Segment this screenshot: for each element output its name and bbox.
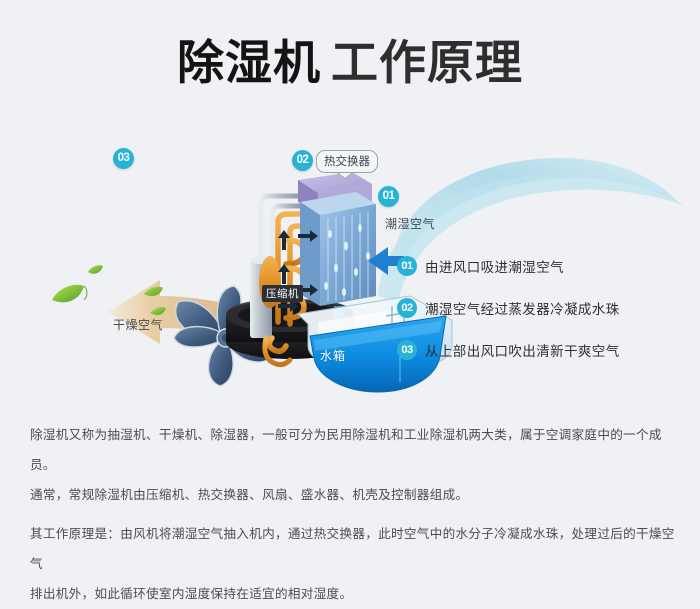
page-title-main: 除湿机 <box>177 36 321 89</box>
badge-dry-air: 03 <box>113 148 134 169</box>
page-root: 除湿机工作原理 <box>0 0 700 566</box>
steps-list: 01 由进风口吸进潮湿空气 02 潮湿空气经过蒸发器冷凝成水珠 03 从上部出风… <box>397 255 697 381</box>
description-copy: 除湿机又称为抽湿机、干燥机、除湿器，一般可分为民用除湿机和工业除湿机两大类，属于… <box>30 420 680 609</box>
label-compressor: 压缩机 <box>262 285 303 302</box>
paragraph-2-line-1: 其工作原理是：由风机将潮湿空气抽入机内，通过热交换器，此时空气中的水分子冷凝成水… <box>30 519 680 579</box>
step-badge: 02 <box>397 298 417 318</box>
step-badge: 03 <box>397 340 417 360</box>
badge-humid-air: 01 <box>378 186 399 207</box>
paragraph-spacer <box>30 510 680 519</box>
step-item: 02 潮湿空气经过蒸发器冷凝成水珠 <box>397 297 697 319</box>
paragraph-2-line-2: 排出机外，如此循环使室内湿度保持在适宜的相对湿度。 <box>30 579 680 609</box>
paragraph-1-line-1: 除湿机又称为抽湿机、干燥机、除湿器，一般可分为民用除湿机和工业除湿机两大类，属于… <box>30 420 680 480</box>
label-humid-air: 潮湿空气 <box>385 215 435 232</box>
page-title: 除湿机工作原理 <box>0 36 700 90</box>
label-water-tank: 水箱 <box>320 347 346 364</box>
step-item: 03 从上部出风口吹出清新干爽空气 <box>397 339 697 361</box>
callout-heat-exchanger: 热交换器 <box>316 150 378 173</box>
page-title-sub: 工作原理 <box>331 36 523 89</box>
step-text: 潮湿空气经过蒸发器冷凝成水珠 <box>425 298 620 318</box>
step-item: 01 由进风口吸进潮湿空气 <box>397 255 697 277</box>
step-text: 由进风口吸进潮湿空气 <box>425 256 564 276</box>
step-text: 从上部出风口吹出清新干爽空气 <box>425 340 620 360</box>
label-dry-air: 干燥空气 <box>113 316 163 333</box>
badge-heat-exchanger: 02 <box>292 150 313 171</box>
paragraph-1-line-2: 通常，常规除湿机由压缩机、热交换器、风扇、盛水器、机壳及控制器组成。 <box>30 480 680 510</box>
step-badge: 01 <box>397 256 417 276</box>
